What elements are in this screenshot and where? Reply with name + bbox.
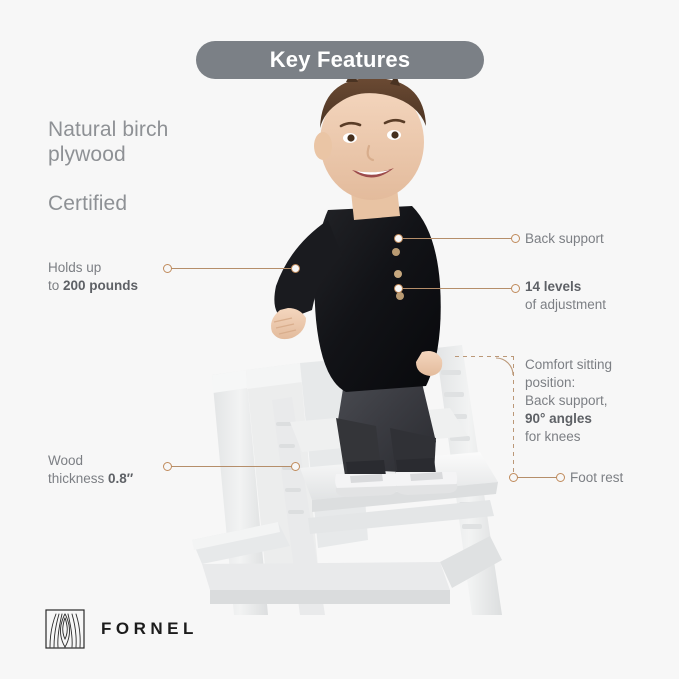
connector-levels [398,288,515,289]
connector-thickness-dot-right [291,462,300,471]
infographic-canvas: Key Features Natural birch plywood Certi… [0,0,679,679]
brand-wordmark: FORNEL [101,619,198,639]
callout-foot-rest-text: Foot rest [570,469,679,487]
connector-weight [167,268,295,269]
connector-thickness-dot-left [163,462,172,471]
callout-wood-thickness: Wood thickness 0.8″ [48,452,178,488]
connector-back-support-dot-left [394,234,403,243]
callout-thickness-line1: Wood [48,452,178,470]
callout-foot-rest: Foot rest [570,469,679,487]
callout-back-support: Back support [525,230,670,248]
callout-comfort-line2: position: [525,374,675,392]
wood-grain-square-icon [45,609,85,649]
connector-foot-rest-dot-right [556,473,565,482]
connector-levels-dot-right [511,284,520,293]
page-title-text: Key Features [270,47,411,73]
callout-comfort-line5: for knees [525,428,675,446]
callout-adjustment-levels: 14 levels of adjustment [525,278,670,314]
right-angle-arc-icon [494,356,516,378]
heading-natural-birch-plywood: Natural birch plywood [48,117,238,167]
callout-weight-value: 200 pounds [63,278,138,293]
connector-thickness [167,466,295,467]
connector-back-support-dot-right [511,234,520,243]
connector-weight-dot-right [291,264,300,273]
callout-weight-prefix: to [48,278,63,293]
connector-weight-dot-left [163,264,172,273]
connector-levels-dot-left [394,284,403,293]
callout-comfort-line4: 90° angles [525,410,675,428]
heading-certified: Certified [48,191,238,216]
brand-logo: FORNEL [45,609,198,649]
callout-weight-line2: to 200 pounds [48,277,178,295]
callout-comfort-line1: Comfort sitting [525,356,675,374]
connector-back-support [398,238,515,239]
callout-weight-line1: Holds up [48,259,178,277]
callout-comfort-line3: Back support, [525,392,675,410]
callout-levels-plain: of adjustment [525,296,670,314]
page-title: Key Features [196,41,484,79]
connector-foot-rest [513,477,560,478]
callout-levels-bold: 14 levels [525,278,670,296]
connector-foot-rest-dot-left [509,473,518,482]
callout-comfort-sitting-position: Comfort sitting position: Back support, … [525,356,675,446]
callout-back-support-text: Back support [525,230,670,248]
callout-thickness-prefix: thickness [48,471,108,486]
callout-thickness-value: 0.8″ [108,471,133,486]
callout-weight-capacity: Holds up to 200 pounds [48,259,178,295]
callout-thickness-line2: thickness 0.8″ [48,470,178,488]
